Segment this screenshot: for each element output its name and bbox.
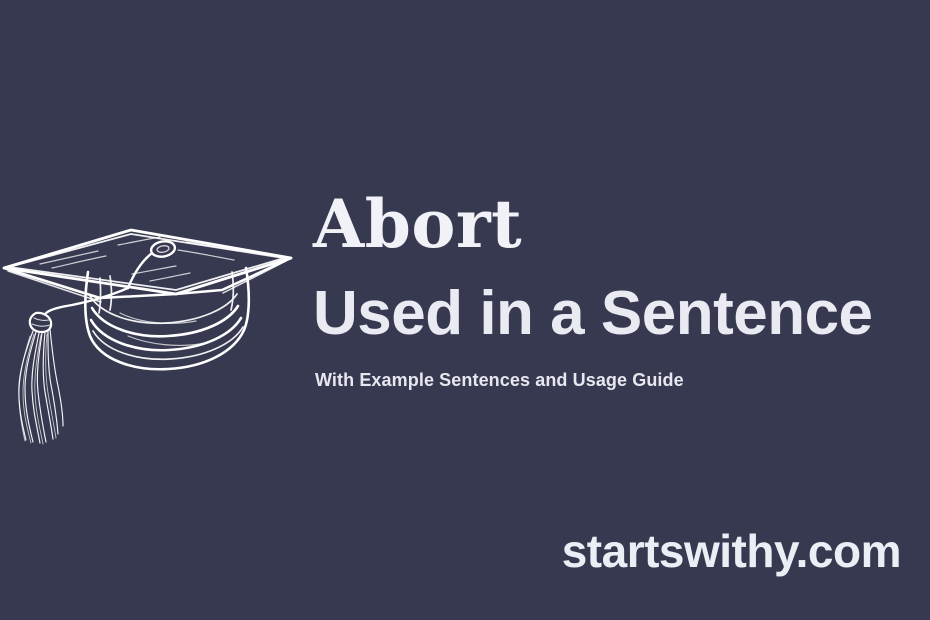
page-title-headword: Abort <box>313 186 913 262</box>
page-subtitle-phrase: Used in a Sentence <box>313 278 913 350</box>
word-banner: Abort Used in a Sentence With Example Se… <box>0 0 930 620</box>
graduation-cap-sketch-icon <box>0 168 300 453</box>
page-tagline: With Example Sentences and Usage Guide <box>315 368 913 392</box>
site-brand-name: startswithy.com <box>562 524 901 578</box>
banner-text-block: Abort Used in a Sentence With Example Se… <box>313 186 913 392</box>
